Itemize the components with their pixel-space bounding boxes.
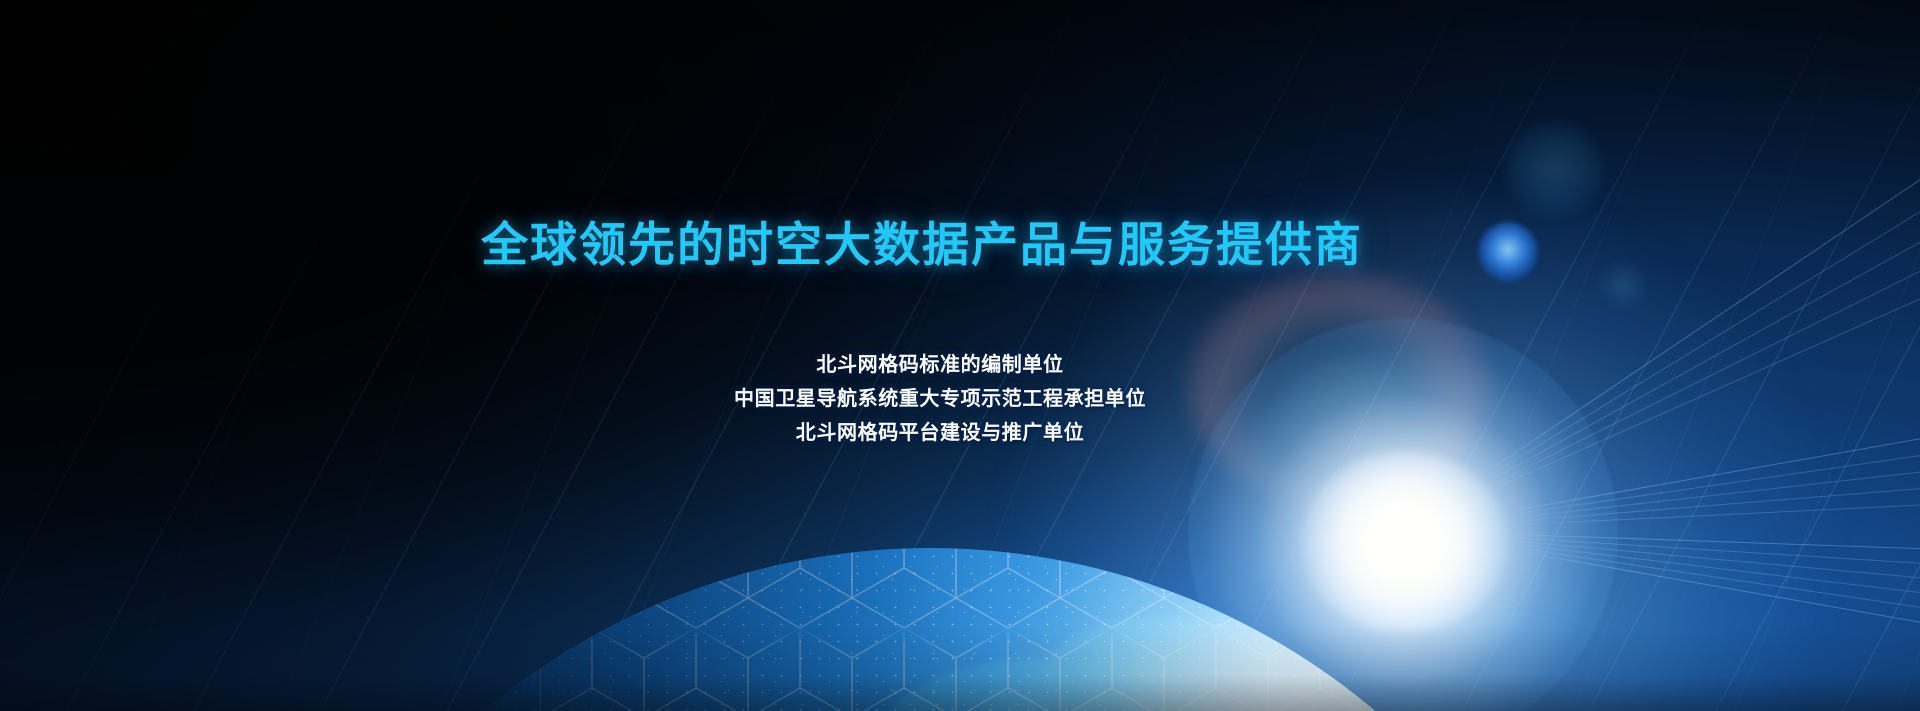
hero-banner: 全球领先的时空大数据产品与服务提供商 北斗网格码标准的编制单位 中国卫星导航系统… (0, 0, 1920, 711)
banner-subtitle-line-1: 北斗网格码标准的编制单位 (0, 348, 1900, 382)
lens-flare-orb-large (1505, 120, 1603, 218)
banner-headline: 全球领先的时空大数据产品与服务提供商 (0, 206, 1882, 275)
banner-subtitle-line-3: 北斗网格码平台建设与推广单位 (0, 416, 1900, 450)
banner-subtitles: 北斗网格码标准的编制单位 中国卫星导航系统重大专项示范工程承担单位 北斗网格码平… (0, 348, 1900, 450)
sun-hotspot (1300, 452, 1510, 632)
banner-subtitle-line-2: 中国卫星导航系统重大专项示范工程承担单位 (0, 382, 1900, 416)
